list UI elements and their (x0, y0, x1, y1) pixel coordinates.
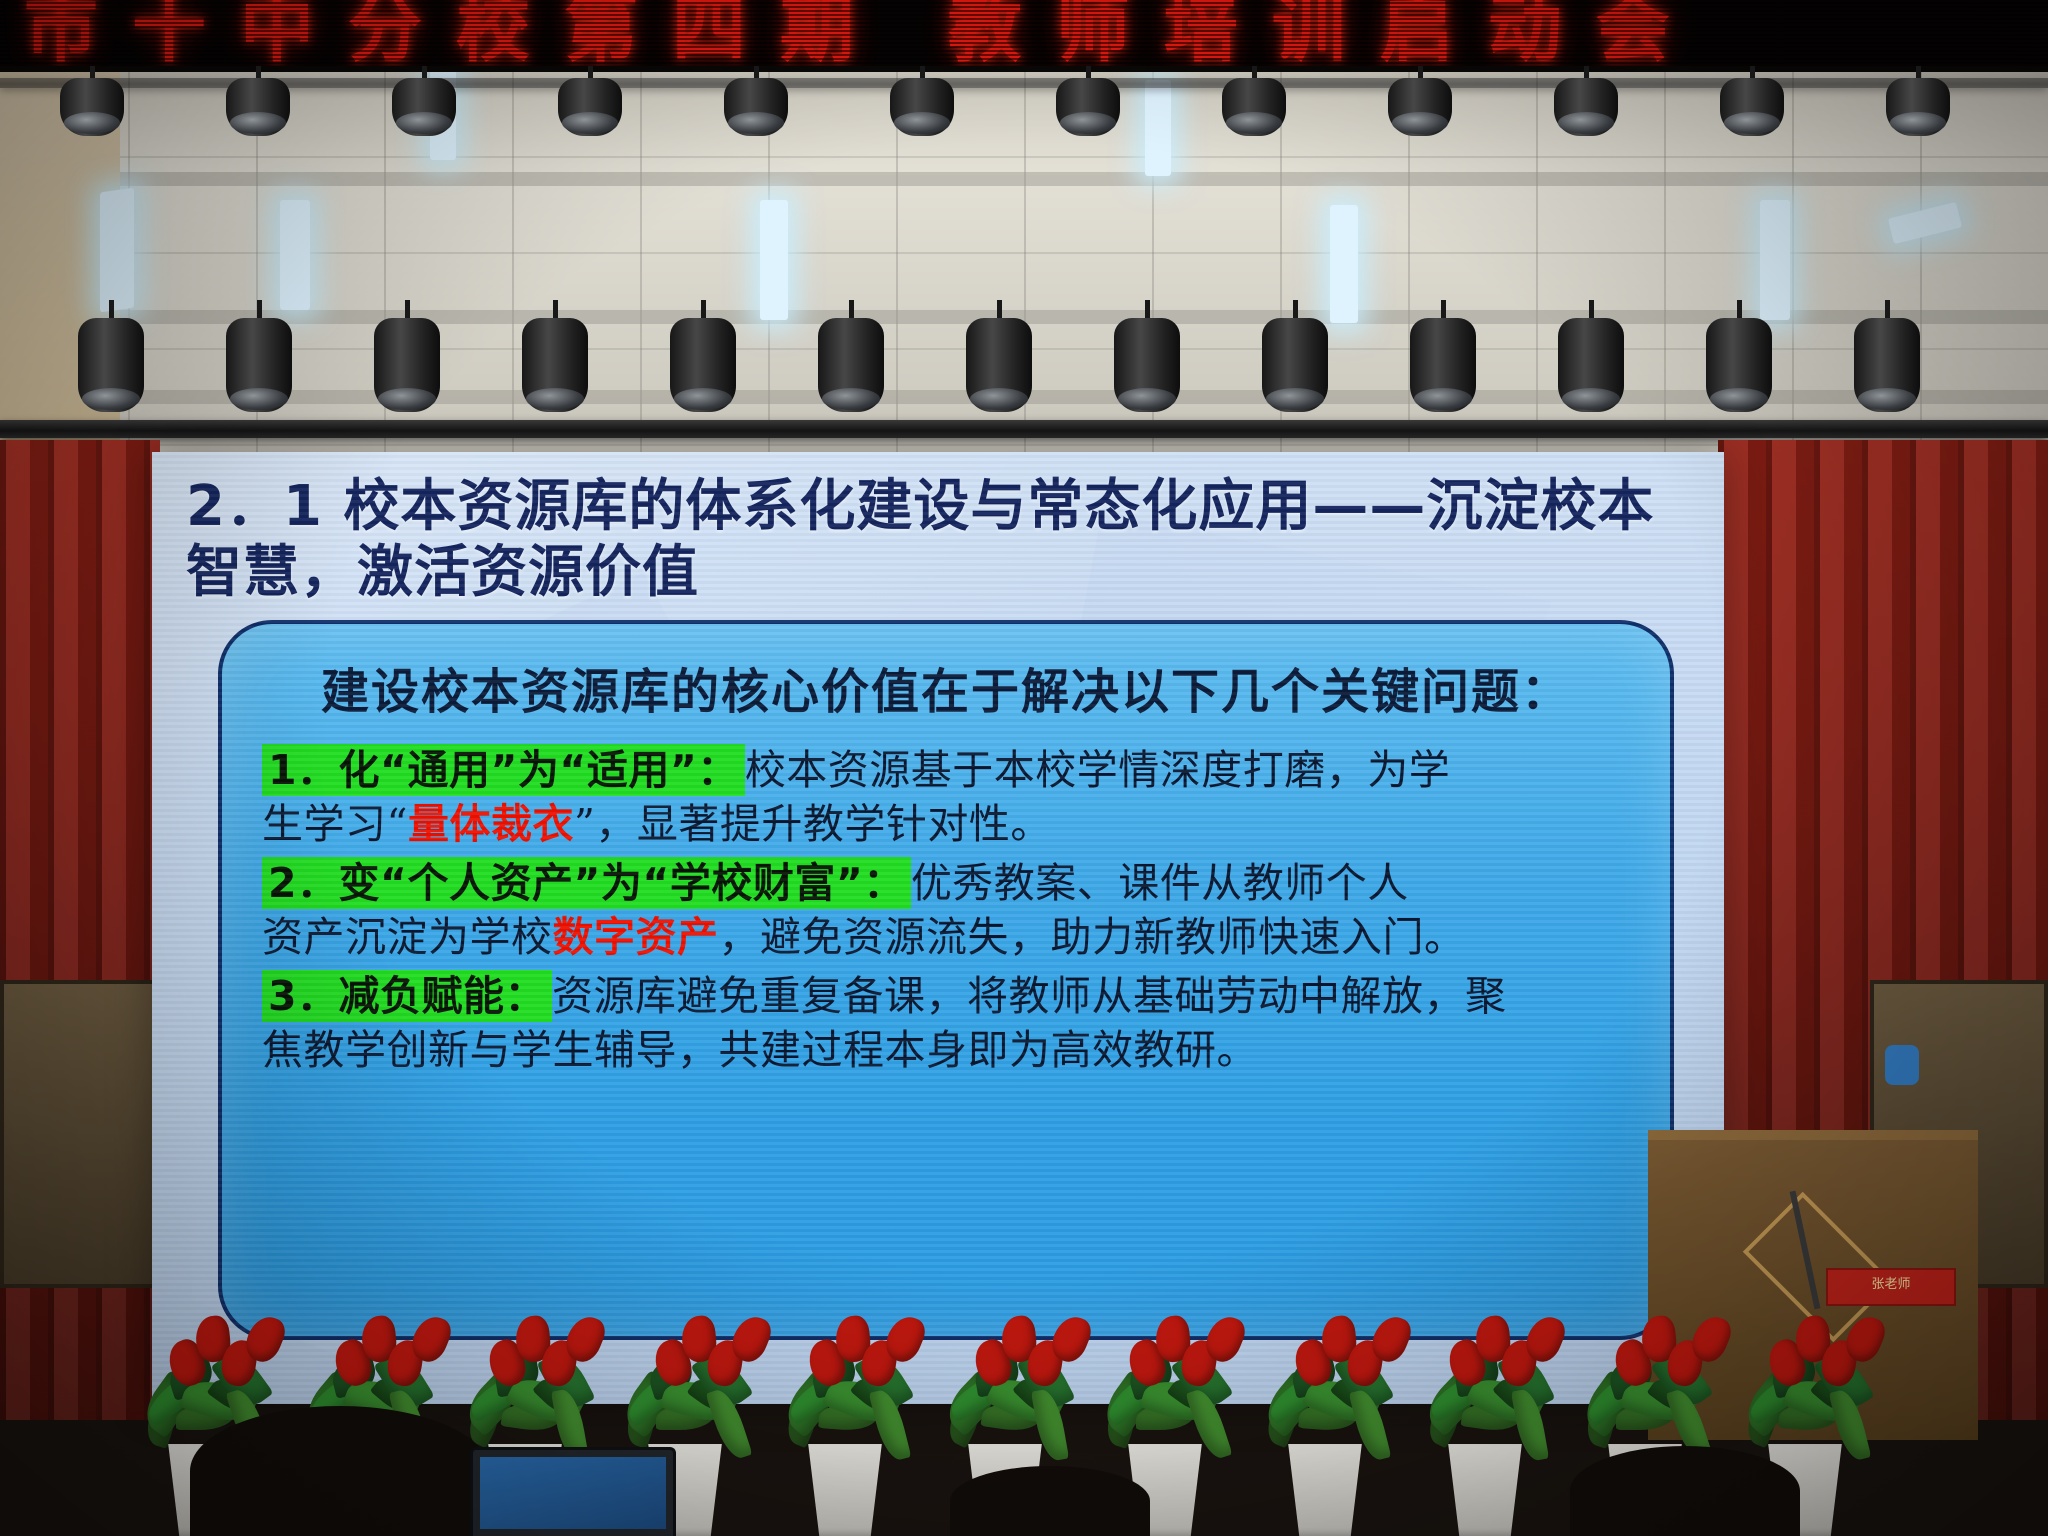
spotlight-body (1388, 78, 1452, 136)
spotlight-body (374, 318, 440, 412)
spotlight-body (1222, 78, 1286, 136)
list-item-line1-rest: 优秀教案、课件从教师个人 (911, 859, 1409, 907)
list-item-line-1: 3．减负赋能：资源库避免重复备课，将教师从基础劳动中解放，聚 (262, 970, 1632, 1022)
spotlight-body (522, 318, 588, 412)
list-item-highlight: 2．变“个人资产”为“学校财富”： (262, 857, 911, 909)
list-item-line-2: 资产沉淀为学校数字资产，避免资源流失，助力新教师快速入门。 (262, 911, 1632, 963)
spotlight-body (890, 78, 954, 136)
plant-pot (799, 1444, 891, 1536)
wall-panel-left (0, 980, 158, 1288)
spotlight-body (1720, 78, 1784, 136)
spotlight-lens (1858, 388, 1916, 410)
spotlight-lens (396, 112, 452, 134)
spotlight-lens (1562, 388, 1620, 410)
spotlight-body (1886, 78, 1950, 136)
list-item-highlight: 3．减负赋能： (262, 970, 552, 1022)
list-item: 2．变“个人资产”为“学校财富”：优秀教案、课件从教师个人 资产沉淀为学校数字资… (240, 857, 1654, 964)
spotlight-lens (378, 388, 436, 410)
spotlight-body (1854, 318, 1920, 412)
spotlight-lens (64, 112, 120, 134)
fluorescent-panel (1330, 205, 1358, 323)
led-scrolling-banner: 市十中分校第四期 教师培训启动会 (0, 0, 2048, 72)
slide-title: 2．1 校本资源库的体系化建设与常态化应用——沉淀校本智慧，激活资源价值 (186, 474, 1696, 605)
spotlight-lens (1414, 388, 1472, 410)
spotlight-body (392, 78, 456, 136)
spotlight-body (78, 318, 144, 412)
spotlight-lens (1060, 112, 1116, 134)
potted-plant (1250, 1336, 1400, 1536)
spotlight-body (1558, 318, 1624, 412)
list-item: 3．减负赋能：资源库避免重复备课，将教师从基础劳动中解放，聚 焦教学创新与学生辅… (240, 970, 1654, 1077)
spotlight-lens (1724, 112, 1780, 134)
fluorescent-panel (760, 200, 788, 320)
ceiling-band (0, 172, 2048, 186)
spotlight-body (966, 318, 1032, 412)
spotlight-body (226, 78, 290, 136)
list-item-emphasis: 量体裁衣 (408, 800, 574, 848)
list-item-line2-pre: 焦教学创新与学生辅导，共建过程本身即为高效教研。 (262, 1026, 1258, 1074)
list-item-line2-pre: 资产沉淀为学校 (262, 913, 553, 961)
spotlight-body (818, 318, 884, 412)
spotlight-body (1554, 78, 1618, 136)
list-item-line2-post: ，避免资源流失，助力新教师快速入门。 (719, 913, 1466, 961)
list-item-line-2: 生学习“量体裁衣”，显著提升教学针对性。 (262, 798, 1632, 850)
list-item-line1-rest: 资源库避免重复备课，将教师从基础劳动中解放，聚 (552, 972, 1507, 1020)
stage-light-truss (0, 420, 2048, 438)
spotlight-lens (674, 388, 732, 410)
spotlight-lens (894, 112, 950, 134)
key-problems-list: 1．化“通用”为“适用”：校本资源基于本校学情深度打磨，为学 生学习“量体裁衣”… (240, 744, 1654, 1083)
plant-pot (1279, 1444, 1371, 1536)
spotlight-body (724, 78, 788, 136)
spotlight-lens (82, 388, 140, 410)
list-item-highlight: 1．化“通用”为“适用”： (262, 744, 745, 796)
list-item-line-1: 2．变“个人资产”为“学校财富”：优秀教案、课件从教师个人 (262, 857, 1632, 909)
spotlight-body (1056, 78, 1120, 136)
list-item-line-2: 焦教学创新与学生辅导，共建过程本身即为高效教研。 (262, 1024, 1632, 1076)
content-callout-box: 建设校本资源库的核心价值在于解决以下几个关键问题： 1．化“通用”为“适用”：校… (218, 620, 1674, 1340)
spotlight-lens (1710, 388, 1768, 410)
spotlight-lens (728, 112, 784, 134)
list-item-line2-post: ”，显著提升教学针对性。 (574, 800, 1052, 848)
wall-marker-icon (1885, 1045, 1919, 1085)
potted-plant (770, 1336, 920, 1536)
fluorescent-panel (280, 200, 310, 310)
spotlight-body (558, 78, 622, 136)
nameplate-text: 张老师 (1828, 1270, 1954, 1300)
audience-laptop (470, 1447, 676, 1536)
led-banner-text: 市十中分校第四期 教师培训启动会 (24, 0, 1704, 64)
spotlight-lens (230, 388, 288, 410)
spotlight-lens (1226, 112, 1282, 134)
fluorescent-panel (1760, 200, 1790, 320)
spotlight-body (1114, 318, 1180, 412)
spotlight-lens (1266, 388, 1324, 410)
spotlight-lens (822, 388, 880, 410)
spotlight-lens (526, 388, 584, 410)
list-item-line2-pre: 生学习“ (262, 800, 408, 848)
content-box-heading: 建设校本资源库的核心价值在于解决以下几个关键问题： (266, 652, 1626, 722)
projection-screen: 2．1 校本资源库的体系化建设与常态化应用——沉淀校本智慧，激活资源价值 建设校… (152, 452, 1724, 1404)
list-item-line-1: 1．化“通用”为“适用”：校本资源基于本校学情深度打磨，为学 (262, 744, 1632, 796)
spotlight-body (1410, 318, 1476, 412)
presentation-hall-photo: 市十中分校第四期 教师培训启动会 2．1 校本资源库的体系化建设与常态化应用——… (0, 0, 2048, 1536)
nameplate: 张老师 (1826, 1268, 1956, 1306)
list-item: 1．化“通用”为“适用”：校本资源基于本校学情深度打磨，为学 生学习“量体裁衣”… (240, 744, 1654, 851)
spotlight-lens (1890, 112, 1946, 134)
list-item-emphasis: 数字资产 (553, 913, 719, 961)
spotlight-body (670, 318, 736, 412)
spotlight-lens (1558, 112, 1614, 134)
laptop-screen (480, 1457, 666, 1529)
spotlight-body (60, 78, 124, 136)
audience-head (1570, 1446, 1800, 1536)
spotlight-lens (1118, 388, 1176, 410)
spotlight-lens (970, 388, 1028, 410)
list-item-line1-rest: 校本资源基于本校学情深度打磨，为学 (745, 746, 1451, 794)
spotlight-lens (1392, 112, 1448, 134)
spotlight-lens (562, 112, 618, 134)
spotlight-body (226, 318, 292, 412)
spotlight-lens (230, 112, 286, 134)
fluorescent-panel (100, 188, 134, 313)
audience-head (190, 1406, 490, 1536)
plant-pot (1439, 1444, 1531, 1536)
spotlight-body (1262, 318, 1328, 412)
potted-plant (1410, 1336, 1560, 1536)
audience-head (950, 1466, 1150, 1536)
fluorescent-panel (1145, 80, 1171, 176)
spotlight-body (1706, 318, 1772, 412)
